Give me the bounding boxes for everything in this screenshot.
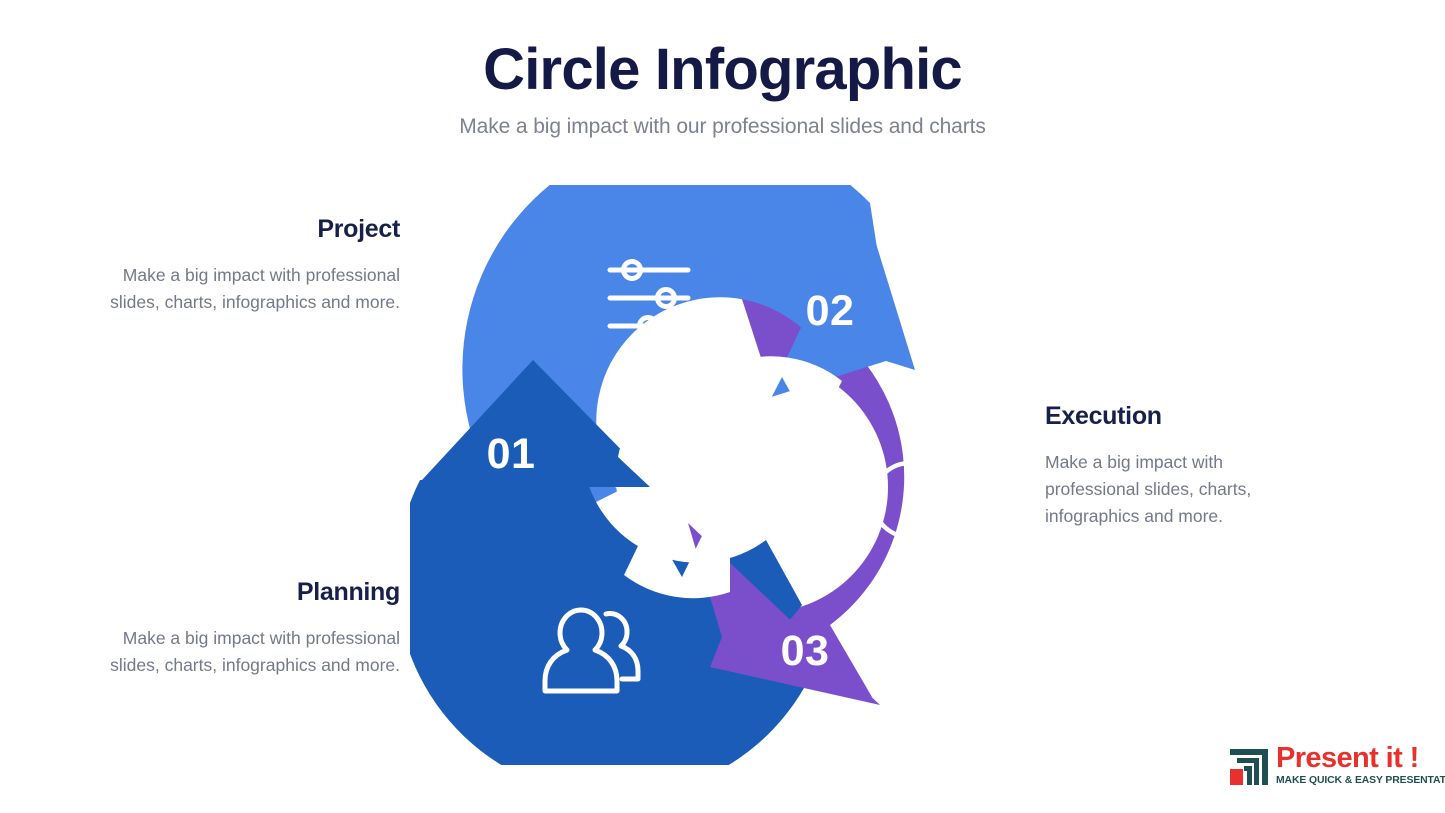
- slide-canvas: Circle Infographic Make a big impact wit…: [0, 0, 1445, 813]
- pie-chart-icon: [873, 463, 947, 537]
- info-block-body: Make a big impact with professional slid…: [1045, 449, 1305, 530]
- segment-number-03: 03: [781, 627, 830, 675]
- segment-number-02: 02: [806, 287, 855, 335]
- info-block-execution: Execution Make a big impact with profess…: [1045, 402, 1305, 530]
- logo-mark-icon: [1228, 747, 1270, 787]
- info-block-heading: Execution: [1045, 402, 1305, 431]
- info-block-planning: Planning Make a big impact with professi…: [100, 578, 400, 679]
- header: Circle Infographic Make a big impact wit…: [0, 40, 1445, 139]
- sliders-icon: [610, 262, 688, 335]
- logo-tagline: MAKE QUICK & EASY PRESENTATIONS: [1276, 775, 1445, 786]
- circular-process-diagram: 01 02 03: [410, 185, 1030, 765]
- page-title: Circle Infographic: [0, 40, 1445, 101]
- brand-logo: Present it ! MAKE QUICK & EASY PRESENTAT…: [1228, 745, 1428, 797]
- page-subtitle: Make a big impact with our professional …: [0, 115, 1445, 139]
- diagram-svg: 01 02 03: [410, 185, 1030, 765]
- info-block-heading: Planning: [100, 578, 400, 607]
- segment-number-01: 01: [487, 430, 536, 478]
- info-block-project: Project Make a big impact with professio…: [100, 215, 400, 316]
- info-block-body: Make a big impact with professional slid…: [100, 262, 400, 316]
- info-block-heading: Project: [100, 215, 400, 244]
- logo-wordmark: Present it !: [1276, 745, 1445, 773]
- info-block-body: Make a big impact with professional slid…: [100, 625, 400, 679]
